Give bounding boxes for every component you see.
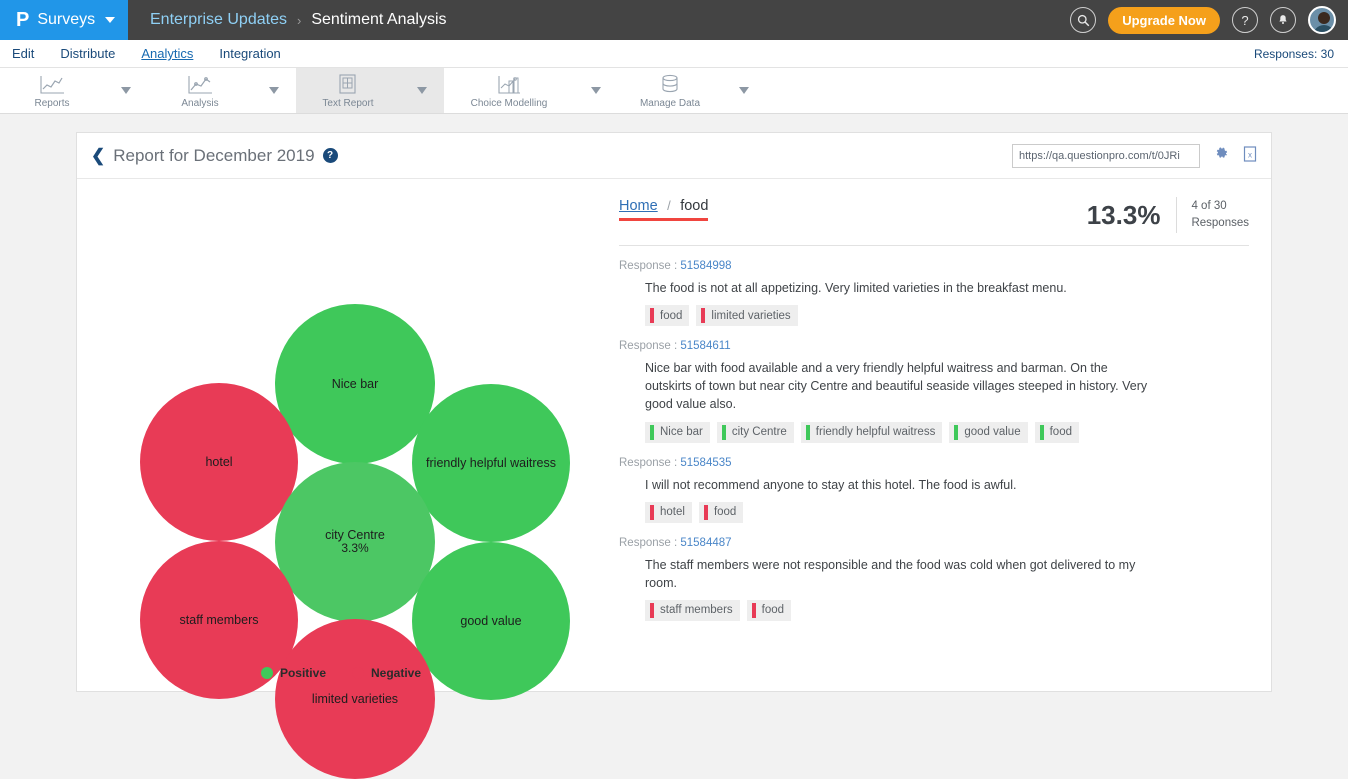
ribbon-item-manage-data[interactable]: Manage Data (618, 68, 766, 113)
bubble-nice-bar[interactable]: Nice bar (275, 304, 435, 464)
gear-icon[interactable] (1214, 146, 1229, 165)
bubble-label: good value (460, 614, 521, 628)
tag-label: city Centre (732, 426, 787, 438)
ribbon-item-choice-modelling[interactable]: Choice Modelling (444, 68, 618, 113)
tag-good-value[interactable]: good value (949, 422, 1027, 443)
percentage-value: 13.3% (1087, 200, 1177, 231)
report-breadcrumb: Home / food (619, 197, 708, 221)
ribbon-label-manage-data: Manage Data (640, 98, 700, 109)
report-card: ❮ Report for December 2019 ? https://qa.… (76, 132, 1272, 692)
response-id-link[interactable]: 51584611 (680, 340, 730, 352)
tag-sentiment-bar (806, 425, 810, 440)
tag-sentiment-bar (722, 425, 726, 440)
tab-integration[interactable]: Integration (219, 46, 280, 61)
manage-data-dropdown-caret-icon[interactable] (722, 87, 766, 94)
tag-label: food (714, 506, 736, 518)
bubble-label: city Centre (325, 528, 385, 542)
tag-city-centre[interactable]: city Centre (717, 422, 794, 443)
response-tags: Nice barcity Centrefriendly helpful wait… (645, 422, 1249, 443)
response-tags: foodlimited varieties (645, 305, 1249, 326)
breadcrumb-separator-icon: › (297, 13, 301, 28)
bubble-city-centre[interactable]: city Centre3.3% (275, 462, 435, 622)
response-tags: hotelfood (645, 502, 1249, 523)
response-item: Response : 51584487The staff members wer… (619, 523, 1249, 621)
analytics-ribbon: Reports Analysis Text Report Choice Mode… (0, 68, 1348, 114)
tag-label: friendly helpful waitress (816, 426, 936, 438)
bubble-percentage: 3.3% (341, 542, 368, 556)
tag-sentiment-bar (752, 603, 756, 618)
ribbon-label-choice-modelling: Choice Modelling (471, 98, 548, 109)
response-text: Nice bar with food available and a very … (645, 359, 1150, 413)
tag-hotel[interactable]: hotel (645, 502, 692, 523)
breadcrumb-current-page: Sentiment Analysis (311, 11, 446, 29)
sentiment-bubble-chart: Nice barhotelfriendly helpful waitressci… (77, 179, 605, 692)
tag-sentiment-bar (650, 308, 654, 323)
response-text: The food is not at all appetizing. Very … (645, 279, 1150, 297)
text-report-dropdown-caret-icon[interactable] (400, 87, 444, 94)
legend-item-positive: Positive (261, 666, 326, 680)
tag-label: staff members (660, 604, 733, 616)
tag-sentiment-bar (954, 425, 958, 440)
legend-dot-negative (352, 667, 364, 679)
response-id-link[interactable]: 51584998 (680, 260, 731, 272)
response-text: I will not recommend anyone to stay at t… (645, 476, 1150, 494)
chevron-left-icon[interactable]: ❮ (91, 146, 105, 166)
bubble-hotel[interactable]: hotel (140, 383, 298, 541)
tag-staff-members[interactable]: staff members (645, 600, 740, 621)
scatter-chart-icon (187, 73, 213, 95)
tab-analytics[interactable]: Analytics (141, 46, 193, 61)
top-bar: P Surveys Enterprise Updates › Sentiment… (0, 0, 1348, 40)
bell-icon[interactable] (1270, 7, 1296, 33)
tag-label: limited varieties (711, 310, 790, 322)
search-icon[interactable] (1070, 7, 1096, 33)
legend-item-negative: Negative (352, 666, 421, 680)
bubble-label: staff members (180, 613, 259, 627)
response-id-link[interactable]: 51584535 (680, 457, 731, 469)
responses-pane: Home / food 13.3% 4 of 30 Responses (605, 179, 1271, 692)
response-id-line: Response : 51584998 (619, 260, 1249, 272)
legend-label-negative: Negative (371, 666, 421, 680)
database-icon (659, 73, 681, 95)
breadcrumb-survey-name[interactable]: Enterprise Updates (150, 11, 287, 29)
tag-label: food (762, 604, 784, 616)
response-text: The staff members were not responsible a… (645, 556, 1150, 592)
ribbon-item-reports[interactable]: Reports (0, 68, 148, 113)
response-id-link[interactable]: 51584487 (680, 537, 731, 549)
responses-ratio-count: 4 of 30 (1191, 200, 1226, 212)
ribbon-item-text-report[interactable]: Text Report (296, 68, 444, 113)
response-list: Response : 51584998The food is not at al… (619, 246, 1249, 621)
tag-label: Nice bar (660, 426, 703, 438)
legend-label-positive: Positive (280, 666, 326, 680)
main-nav-tabs: Edit Distribute Analytics Integration Re… (0, 40, 1348, 68)
tag-food[interactable]: food (699, 502, 743, 523)
brand-label: Surveys (37, 11, 95, 29)
tag-food[interactable]: food (747, 600, 791, 621)
legend-dot-positive (261, 667, 273, 679)
svg-text:x: x (1248, 150, 1252, 159)
report-card-body: Nice barhotelfriendly helpful waitressci… (77, 179, 1271, 692)
download-report-icon[interactable]: x (1243, 146, 1257, 166)
tag-sentiment-bar (650, 603, 654, 618)
ribbon-label-analysis: Analysis (181, 98, 218, 109)
tag-label: food (660, 310, 682, 322)
avatar[interactable] (1308, 6, 1336, 34)
report-card-header: ❮ Report for December 2019 ? https://qa.… (77, 133, 1271, 179)
tag-sentiment-bar (1040, 425, 1044, 440)
choice-modelling-dropdown-caret-icon[interactable] (574, 87, 618, 94)
page-title: Report for December 2019 (113, 146, 314, 166)
bar-chart-icon (496, 73, 522, 95)
tag-food[interactable]: food (1035, 422, 1079, 443)
analysis-dropdown-caret-icon[interactable] (252, 87, 296, 94)
bubble-label: friendly helpful waitress (426, 456, 556, 470)
response-item: Response : 51584611Nice bar with food av… (619, 326, 1249, 442)
top-bar-actions: Upgrade Now ? (1070, 0, 1348, 40)
page-container: ❮ Report for December 2019 ? https://qa.… (0, 114, 1348, 692)
tag-label: good value (964, 426, 1020, 438)
responses-ratio-label: Responses (1191, 217, 1249, 229)
responses-count: Responses: 30 (1254, 47, 1334, 61)
chevron-down-icon (105, 17, 115, 23)
bubble-label: Nice bar (332, 377, 379, 391)
tab-distribute[interactable]: Distribute (60, 46, 115, 61)
line-chart-icon (39, 73, 65, 95)
ribbon-item-analysis[interactable]: Analysis (148, 68, 296, 113)
report-url-field[interactable]: https://qa.questionpro.com/t/0JRi (1012, 144, 1200, 168)
ribbon-label-reports: Reports (34, 98, 69, 109)
tag-sentiment-bar (704, 505, 708, 520)
brand-surveys-menu[interactable]: P Surveys (0, 0, 128, 40)
bubble-label: limited varieties (312, 692, 398, 706)
tag-sentiment-bar (701, 308, 705, 323)
tag-label: hotel (660, 506, 685, 518)
response-item: Response : 51584535I will not recommend … (619, 443, 1249, 523)
tag-limited-varieties[interactable]: limited varieties (696, 305, 797, 326)
response-id-line: Response : 51584611 (619, 340, 1249, 352)
breadcrumb-current-topic: food (680, 198, 708, 214)
breadcrumb-home-link[interactable]: Home (619, 198, 658, 214)
tag-sentiment-bar (650, 505, 654, 520)
help-icon[interactable]: ? (1232, 7, 1258, 33)
breadcrumb-underline (619, 218, 708, 221)
upgrade-now-button[interactable]: Upgrade Now (1108, 7, 1220, 34)
tag-friendly-helpful-waitress[interactable]: friendly helpful waitress (801, 422, 943, 443)
chart-legend: Positive Negative (77, 666, 605, 680)
response-id-line: Response : 51584535 (619, 457, 1249, 469)
tag-label: food (1050, 426, 1072, 438)
tag-nice-bar[interactable]: Nice bar (645, 422, 710, 443)
report-card-actions: https://qa.questionpro.com/t/0JRi x (1012, 144, 1257, 168)
breadcrumb: Enterprise Updates › Sentiment Analysis (128, 0, 447, 40)
bubble-friendly-helpful-waitress[interactable]: friendly helpful waitress (412, 384, 570, 542)
help-icon[interactable]: ? (323, 148, 338, 163)
breadcrumb-slash: / (667, 198, 671, 213)
responses-stats: 13.3% 4 of 30 Responses (1087, 197, 1249, 233)
responses-ratio: 4 of 30 Responses (1177, 198, 1249, 231)
response-tags: staff membersfood (645, 600, 1249, 621)
response-item: Response : 51584998The food is not at al… (619, 246, 1249, 326)
bubble-label: hotel (205, 455, 232, 469)
responses-header: Home / food 13.3% 4 of 30 Responses (619, 197, 1249, 246)
bubble-limited-varieties[interactable]: limited varieties (275, 619, 435, 779)
document-grid-icon (337, 73, 359, 95)
tab-edit[interactable]: Edit (12, 46, 34, 61)
ribbon-label-text-report: Text Report (322, 98, 373, 109)
reports-dropdown-caret-icon[interactable] (104, 87, 148, 94)
questionpro-logo-icon: P (16, 10, 29, 30)
response-id-line: Response : 51584487 (619, 537, 1249, 549)
tag-food[interactable]: food (645, 305, 689, 326)
tag-sentiment-bar (650, 425, 654, 440)
